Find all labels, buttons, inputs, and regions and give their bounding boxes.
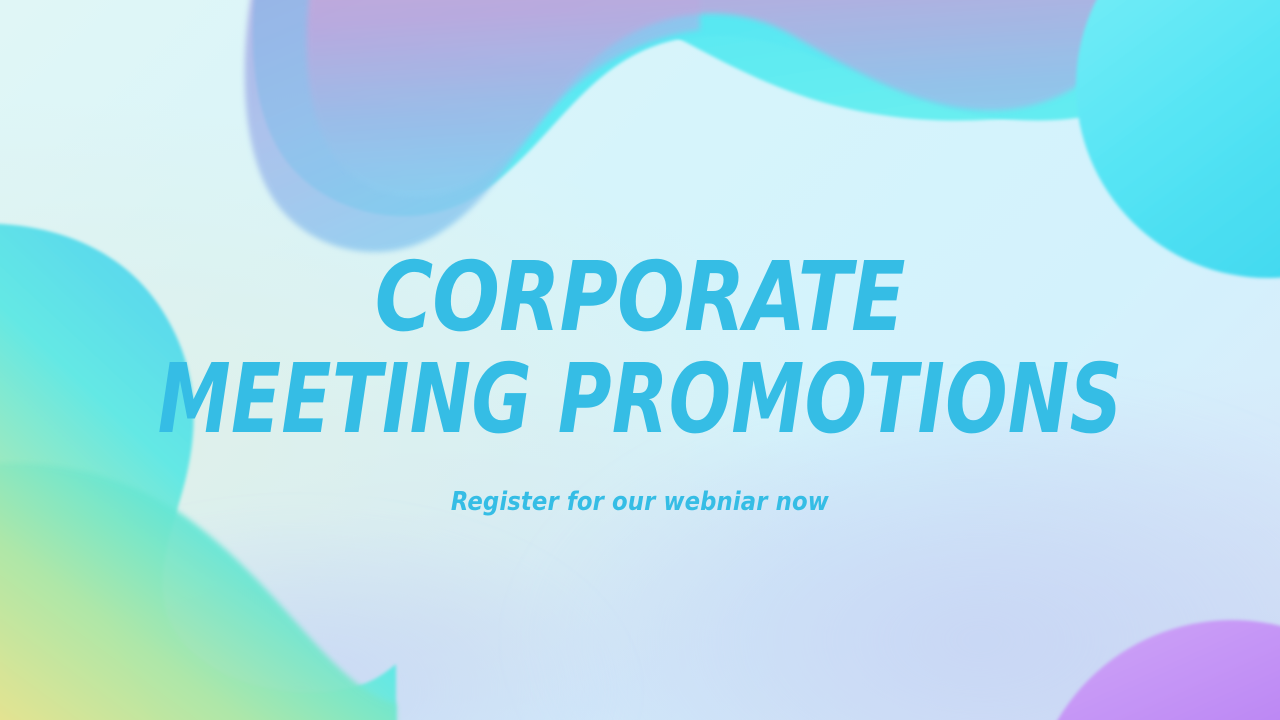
banner-content: CORPORATE MEETING PROMOTIONS Register fo… [0,0,1280,720]
headline-line-1: CORPORATE [0,250,1280,344]
subheadline: Register for our webniar now [0,487,1280,517]
headline-line-2: MEETING PROMOTIONS [0,352,1280,446]
promo-banner: CORPORATE MEETING PROMOTIONS Register fo… [0,0,1280,720]
